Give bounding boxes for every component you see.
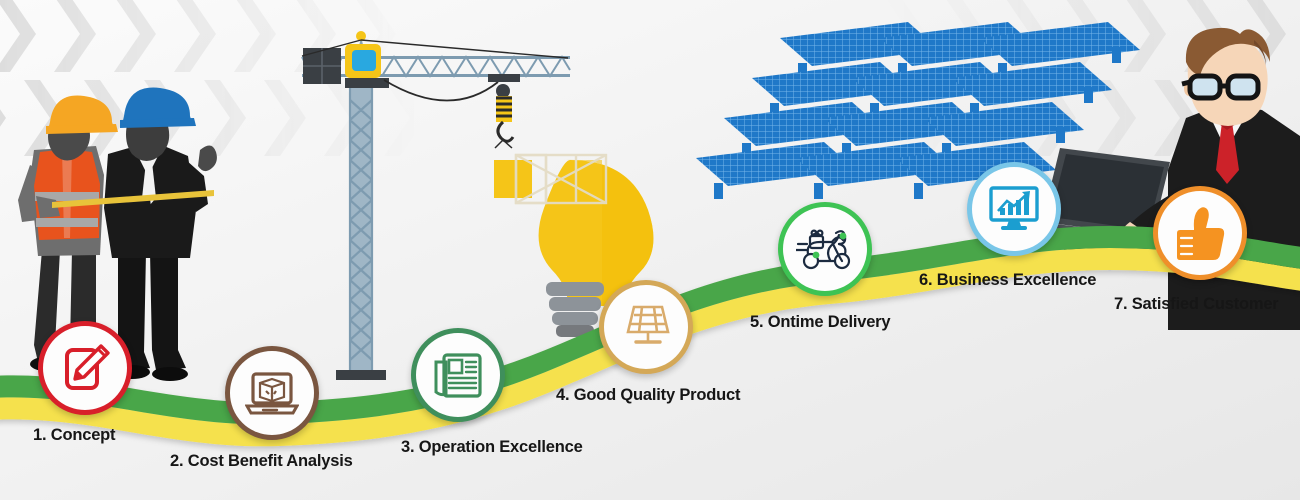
step-label-operation-excellence: 3. Operation Excellence — [401, 438, 583, 457]
step-circle-satisfied-customer[interactable] — [1153, 186, 1247, 280]
solar-panel-icon — [618, 302, 674, 352]
step-circle-business-excellence[interactable] — [967, 162, 1061, 256]
thumbs-up-icon — [1174, 206, 1226, 260]
step-label-good-quality-product: 4. Good Quality Product — [556, 386, 740, 405]
monitor-growth-chart-icon — [987, 185, 1041, 233]
step-label-satisfied-customer: 7. Satisfied Customer — [1114, 295, 1279, 314]
laptop-box-icon — [245, 368, 299, 418]
roadmap-ribbon-path — [0, 0, 1300, 500]
step-circle-ontime-delivery[interactable] — [778, 202, 872, 296]
step-circle-operation-excellence[interactable] — [411, 328, 505, 422]
newspaper-icon — [432, 350, 484, 400]
step-label-concept: 1. Concept — [33, 426, 115, 445]
step-label-business-excellence: 6. Business Excellence — [919, 271, 1096, 290]
step-circle-good-quality-product[interactable] — [599, 280, 693, 374]
note-pencil-icon — [59, 342, 111, 394]
infographic-canvas: 1. Concept 2. Cost Benefit Analysis 3. O… — [0, 0, 1300, 500]
step-label-ontime-delivery: 5. Ontime Delivery — [750, 313, 890, 332]
step-circle-cost-benefit-analysis[interactable] — [225, 346, 319, 440]
scooter-delivery-icon — [796, 226, 854, 272]
step-circle-concept[interactable] — [38, 321, 132, 415]
step-label-cost-benefit-analysis: 2. Cost Benefit Analysis — [170, 452, 353, 471]
